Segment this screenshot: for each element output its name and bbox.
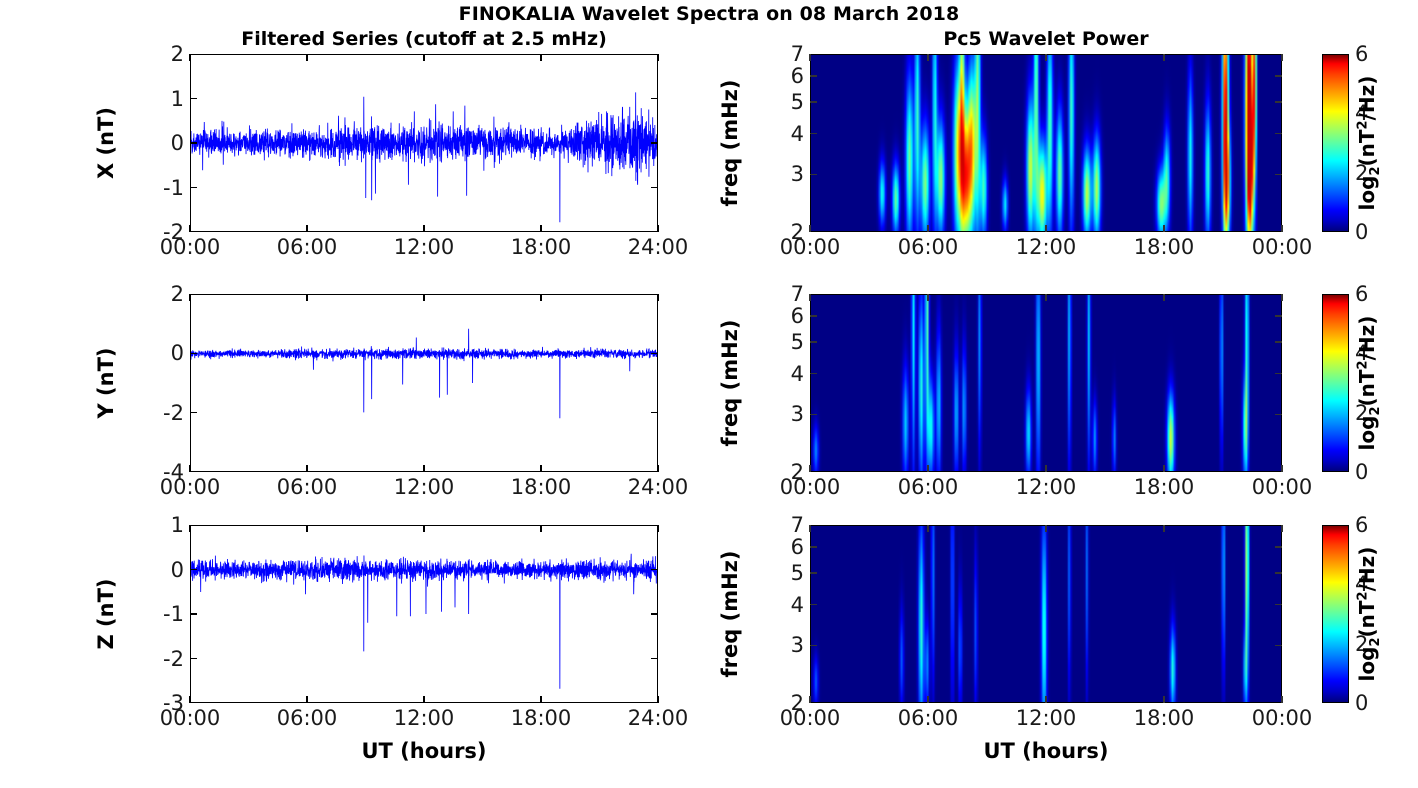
freq-tick	[810, 75, 817, 77]
freq-tick-right	[1275, 174, 1282, 176]
freq-tick	[810, 645, 817, 647]
freq-tick-right	[1275, 414, 1282, 416]
x-tick	[423, 225, 425, 232]
y-tick-right	[651, 353, 658, 355]
y-tick	[190, 353, 197, 355]
colorbar-tick-label: 6	[1355, 42, 1368, 66]
freq-axis-title: freq (mHz)	[718, 551, 742, 678]
x-tick-label: 06:00	[898, 235, 959, 259]
timeseries-trace-z	[191, 526, 657, 702]
colorbar-y	[1322, 294, 1349, 472]
x-tick-label: 18:00	[1134, 706, 1195, 730]
timeseries-trace-x	[191, 55, 657, 231]
freq-tick-right	[1275, 546, 1282, 548]
y-tick	[190, 187, 197, 189]
x-tick	[657, 465, 659, 472]
y-tick-right	[651, 98, 658, 100]
x-tick-top	[306, 525, 308, 532]
x-tick	[1163, 696, 1165, 703]
x-tick	[306, 696, 308, 703]
colorbar-gradient	[1323, 295, 1348, 471]
freq-tick-label: 4	[772, 362, 804, 386]
y-tick-right	[651, 142, 658, 144]
freq-tick	[810, 414, 817, 416]
x-tick	[1163, 465, 1165, 472]
freq-tick	[810, 101, 817, 103]
x-tick-top	[809, 525, 811, 532]
x-tick	[927, 465, 929, 472]
timeseries-panel-x	[190, 54, 658, 232]
x-tick	[1045, 696, 1047, 703]
x-tick-top	[1281, 525, 1283, 532]
x-tick-label: 12:00	[394, 475, 455, 499]
y-tick-label: -4	[148, 460, 184, 484]
freq-tick-right	[1275, 133, 1282, 135]
freq-tick-label: 6	[772, 64, 804, 88]
right-column-title: Pc5 Wavelet Power	[810, 28, 1282, 50]
freq-tick	[810, 604, 817, 606]
x-tick	[1163, 225, 1165, 232]
y-tick-label: 1	[148, 513, 184, 537]
x-tick-top	[809, 54, 811, 61]
spectrogram-panel-z	[810, 525, 1282, 703]
spectrogram-image-x	[811, 55, 1281, 231]
y-tick-right	[651, 187, 658, 189]
y-tick-right	[651, 569, 658, 571]
colorbar-gradient	[1323, 526, 1348, 702]
y-tick-label: -2	[148, 401, 184, 425]
x-tick-label: 18:00	[511, 475, 572, 499]
freq-tick-label: 3	[772, 633, 804, 657]
x-tick	[1281, 225, 1283, 232]
spectrogram-panel-y	[810, 294, 1282, 472]
x-tick-label: 12:00	[1016, 235, 1077, 259]
freq-tick-label: 6	[772, 304, 804, 328]
colorbar-tick-label: 6	[1355, 513, 1368, 537]
y-tick-label: -2	[148, 647, 184, 671]
x-tick	[927, 696, 929, 703]
y-tick-right	[651, 412, 658, 414]
x-tick-top	[189, 54, 191, 61]
freq-tick	[810, 572, 817, 574]
x-tick	[1045, 465, 1047, 472]
freq-tick	[810, 373, 817, 375]
timeseries-trace-y	[191, 295, 657, 471]
colorbar-tick-label: 0	[1355, 220, 1368, 244]
freq-tick-right	[1275, 645, 1282, 647]
timeseries-panel-y	[190, 294, 658, 472]
x-tick-top	[189, 294, 191, 301]
x-tick	[927, 225, 929, 232]
x-tick-top	[1045, 525, 1047, 532]
y-axis-title: Z (nT)	[94, 578, 118, 649]
colorbar-axis-title: log2(nT2/Hz)	[1355, 76, 1383, 211]
x-tick-top	[306, 294, 308, 301]
x-tick-label: 18:00	[1134, 475, 1195, 499]
freq-tick-label: 5	[772, 561, 804, 585]
freq-tick-right	[1275, 373, 1282, 375]
freq-tick	[810, 341, 817, 343]
freq-tick-label: 2	[772, 460, 804, 484]
freq-tick-label: 4	[772, 122, 804, 146]
x-tick-top	[927, 294, 929, 301]
freq-tick-right	[1275, 315, 1282, 317]
freq-axis-title: freq (mHz)	[718, 80, 742, 207]
x-tick-label: 06:00	[277, 475, 338, 499]
x-tick	[657, 225, 659, 232]
x-tick-top	[540, 525, 542, 532]
timeseries-panel-z	[190, 525, 658, 703]
x-tick	[423, 465, 425, 472]
y-tick-label: -3	[148, 691, 184, 715]
freq-tick-right	[1275, 75, 1282, 77]
spectrogram-image-z	[811, 526, 1281, 702]
colorbar-x	[1322, 54, 1349, 232]
freq-tick-label: 2	[772, 691, 804, 715]
colorbar-axis-title: log2(nT2/Hz)	[1355, 547, 1383, 682]
spectrogram-image-y	[811, 295, 1281, 471]
freq-tick-label: 5	[772, 90, 804, 114]
y-tick	[190, 569, 197, 571]
x-tick	[809, 696, 811, 703]
freq-tick-label: 2	[772, 220, 804, 244]
x-tick-label: 12:00	[394, 235, 455, 259]
x-tick-top	[540, 294, 542, 301]
x-tick-label: 18:00	[511, 706, 572, 730]
y-axis-title: Y (nT)	[94, 348, 118, 419]
x-tick-top	[423, 525, 425, 532]
x-tick-label: 06:00	[277, 706, 338, 730]
figure-title: FINOKALIA Wavelet Spectra on 08 March 20…	[0, 3, 1418, 25]
freq-tick-right	[1275, 101, 1282, 103]
x-tick-label: 12:00	[394, 706, 455, 730]
x-tick	[189, 225, 191, 232]
colorbar-gradient	[1323, 55, 1348, 231]
freq-tick-right	[1275, 604, 1282, 606]
freq-tick-label: 7	[772, 42, 804, 66]
x-tick-label: 24:00	[628, 475, 689, 499]
y-axis-title: X (nT)	[94, 107, 118, 179]
x-tick-top	[1045, 54, 1047, 61]
freq-tick	[810, 315, 817, 317]
x-tick-label: 24:00	[628, 235, 689, 259]
x-tick-top	[1163, 525, 1165, 532]
x-tick-top	[1281, 294, 1283, 301]
x-tick-top	[809, 294, 811, 301]
y-tick-label: -2	[148, 220, 184, 244]
y-tick	[190, 98, 197, 100]
freq-tick-right	[1275, 341, 1282, 343]
x-tick-top	[1045, 294, 1047, 301]
x-axis-title: UT (hours)	[810, 739, 1282, 763]
x-tick	[306, 225, 308, 232]
y-tick	[190, 658, 197, 660]
x-tick	[1281, 696, 1283, 703]
x-tick-top	[306, 54, 308, 61]
spectrogram-panel-x	[810, 54, 1282, 232]
colorbar-tick-label: 0	[1355, 691, 1368, 715]
x-tick-label: 18:00	[1134, 235, 1195, 259]
y-tick-label: -1	[148, 602, 184, 626]
y-tick	[190, 412, 197, 414]
x-tick-top	[423, 54, 425, 61]
y-tick-right	[651, 658, 658, 660]
y-tick	[190, 613, 197, 615]
colorbar-tick-label: 6	[1355, 282, 1368, 306]
x-tick	[540, 465, 542, 472]
x-tick	[1045, 225, 1047, 232]
y-tick-label: 2	[148, 42, 184, 66]
colorbar-z	[1322, 525, 1349, 703]
freq-tick-label: 3	[772, 402, 804, 426]
x-axis-title: UT (hours)	[190, 739, 658, 763]
x-tick	[306, 465, 308, 472]
x-tick	[1281, 465, 1283, 472]
y-tick-label: -1	[148, 176, 184, 200]
x-tick	[189, 696, 191, 703]
x-tick-top	[423, 294, 425, 301]
x-tick-top	[657, 525, 659, 532]
x-tick-top	[657, 294, 659, 301]
x-tick-top	[1163, 54, 1165, 61]
y-tick-label: 2	[148, 282, 184, 306]
left-column-title: Filtered Series (cutoff at 2.5 mHz)	[190, 28, 658, 50]
x-tick-label: 00:00	[1252, 706, 1313, 730]
x-tick	[189, 465, 191, 472]
x-tick	[657, 696, 659, 703]
y-tick-label: 0	[148, 341, 184, 365]
x-tick-top	[1281, 54, 1283, 61]
y-tick	[190, 142, 197, 144]
freq-axis-title: freq (mHz)	[718, 320, 742, 447]
x-tick-top	[657, 54, 659, 61]
colorbar-axis-title: log2(nT2/Hz)	[1355, 316, 1383, 451]
x-tick-label: 12:00	[1016, 475, 1077, 499]
x-tick-top	[927, 525, 929, 532]
x-tick-label: 06:00	[898, 475, 959, 499]
y-tick-label: 1	[148, 87, 184, 111]
x-tick-top	[189, 525, 191, 532]
x-tick-label: 06:00	[277, 235, 338, 259]
x-tick-label: 06:00	[898, 706, 959, 730]
x-tick-label: 00:00	[1252, 475, 1313, 499]
y-tick-label: 0	[148, 558, 184, 582]
x-tick	[809, 465, 811, 472]
x-tick-top	[1163, 294, 1165, 301]
figure-canvas: FINOKALIA Wavelet Spectra on 08 March 20…	[0, 0, 1418, 788]
freq-tick-label: 7	[772, 513, 804, 537]
x-tick	[540, 696, 542, 703]
freq-tick-label: 5	[772, 330, 804, 354]
x-tick-label: 00:00	[1252, 235, 1313, 259]
x-tick-label: 18:00	[511, 235, 572, 259]
x-tick	[423, 696, 425, 703]
freq-tick-label: 6	[772, 535, 804, 559]
colorbar-tick-label: 0	[1355, 460, 1368, 484]
freq-tick-label: 4	[772, 593, 804, 617]
x-tick-label: 24:00	[628, 706, 689, 730]
x-tick-label: 12:00	[1016, 706, 1077, 730]
y-tick-right	[651, 613, 658, 615]
freq-tick	[810, 133, 817, 135]
x-tick	[809, 225, 811, 232]
x-tick-top	[927, 54, 929, 61]
freq-tick	[810, 546, 817, 548]
freq-tick	[810, 174, 817, 176]
freq-tick-label: 3	[772, 162, 804, 186]
freq-tick-right	[1275, 572, 1282, 574]
y-tick-label: 0	[148, 131, 184, 155]
freq-tick-label: 7	[772, 282, 804, 306]
x-tick-top	[540, 54, 542, 61]
x-tick	[540, 225, 542, 232]
